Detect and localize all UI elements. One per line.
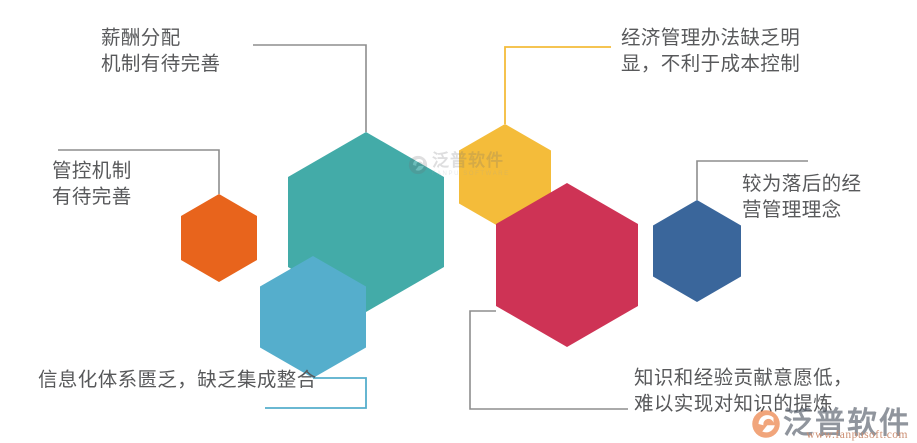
callout-control-mechanism: 管控机制 有待完善 xyxy=(52,159,132,210)
callout-salary-distribution: 薪酬分配 机制有待完善 xyxy=(101,26,220,77)
callout-management-concept: 较为落后的经 营管理理念 xyxy=(742,172,861,223)
hexagon-orange[interactable] xyxy=(181,194,257,282)
callout-economic-management: 经济管理办法缺乏明 显，不利于成本控制 xyxy=(621,26,800,77)
hexagon-dark-blue[interactable] xyxy=(653,200,741,302)
hexagon-infographic: 薪酬分配 机制有待完善 管控机制 有待完善 经济管理办法缺乏明 显，不利于成本控… xyxy=(0,0,917,443)
callout-knowledge-contribution: 知识和经验贡献意愿低， 难以实现对知识的提炼 xyxy=(634,366,853,417)
callout-information-system: 信息化体系匮乏，缺乏集成整合 xyxy=(38,368,317,394)
